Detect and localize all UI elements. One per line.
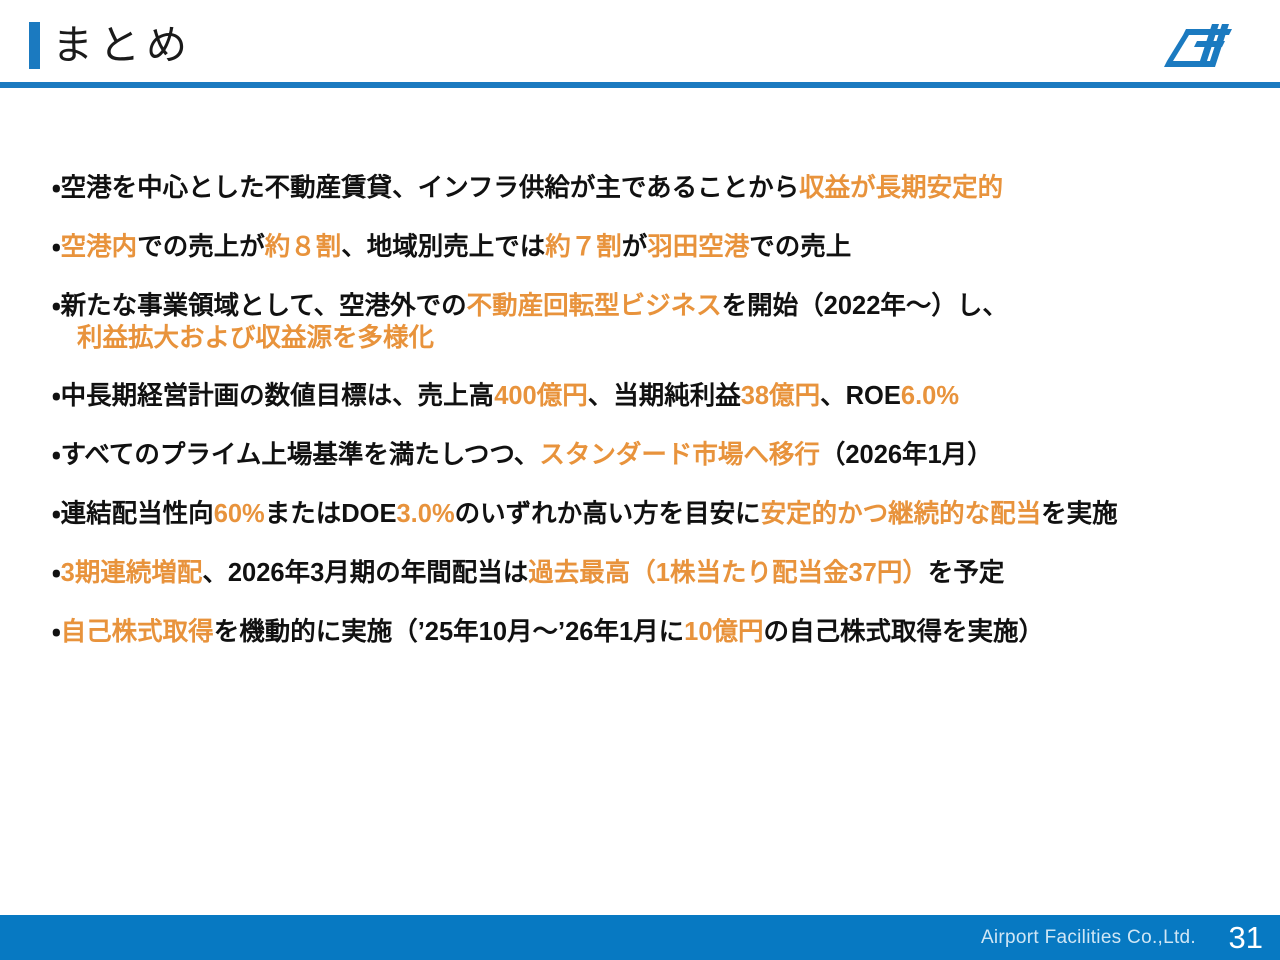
bullet-2-seg-1: 空港内 <box>61 233 138 261</box>
bullet-item-4: ・中長期経営計画の数値目標は、売上高400億円、当期純利益38億円、ROE6.0… <box>52 380 1242 412</box>
bullet-7-seg-2: 、2026年3月期の年間配当は <box>202 559 528 587</box>
bullet-1-seg-2: 収益が長期安定的 <box>799 174 1003 202</box>
bullet-2-seg-8: での売上 <box>749 233 851 261</box>
bullet-2-seg-7: 羽田空港 <box>647 233 749 261</box>
bullet-item-1: ・空港を中心とした不動産賃貸、インフラ供給が主であることから収益が長期安定的 <box>52 172 1242 204</box>
bullet-8-seg-1: 自己株式取得 <box>61 618 214 646</box>
bullet-2-seg-2: での売上が <box>137 233 265 261</box>
bullet-2-seg-6: が <box>622 233 648 261</box>
slide-footer: Airport Facilities Co.,Ltd. 31 <box>0 915 1280 960</box>
bullet-4-seg-5: 、ROE <box>820 382 901 410</box>
bullet-8-seg-2: を機動的に実施（’25年10月〜’26年1月に <box>214 618 684 646</box>
bullet-4-seg-2: 400億円 <box>494 382 588 410</box>
bullet-7-seg-1: 3期連続増配 <box>61 559 203 587</box>
bullet-item-3: ・新たな事業領域として、空港外での不動産回転型ビジネスを開始（2022年〜）し、… <box>52 290 1242 354</box>
bullet-item-7: ・3期連続増配、2026年3月期の年間配当は過去最高（1株当たり配当金37円）を… <box>52 557 1242 589</box>
bullet-2-seg-4: 、地域別売上では <box>341 233 545 261</box>
header-divider <box>0 82 1280 88</box>
bullet-3-continuation: 利益拡大および収益源を多様化 <box>52 322 1242 354</box>
bullet-3-seg-1: 新たな事業領域として、空港外での <box>61 292 467 320</box>
bullet-marker: ・ <box>52 441 61 469</box>
bullet-marker: ・ <box>52 559 61 587</box>
bullet-6-seg-5: のいずれか高い方を目安に <box>455 500 761 528</box>
bullet-item-6: ・連結配当性向60%またはDOE3.0%のいずれか高い方を目安に安定的かつ継続的… <box>52 498 1242 530</box>
bullet-marker: ・ <box>52 292 61 320</box>
slide: まとめ ・空港を中心とした不動産賃貸、インフラ供給が主であることから収益が長期安… <box>0 0 1280 960</box>
bullet-3-seg-4: 利益拡大および収益源を多様化 <box>77 324 434 352</box>
bullet-6-seg-3: またはDOE <box>265 500 397 528</box>
bullet-marker: ・ <box>52 174 61 202</box>
bullet-marker: ・ <box>52 233 61 261</box>
bullet-marker: ・ <box>52 500 61 528</box>
bullet-7-seg-3: 過去最高（1株当たり配当金37円） <box>528 559 928 587</box>
bullet-8-seg-3: 10億円 <box>684 618 763 646</box>
title-accent-bar <box>29 22 40 69</box>
bullet-3-seg-3: を開始（2022年〜）し、 <box>722 292 1008 320</box>
bullet-5-seg-2: スタンダード市場へ移行 <box>539 441 820 469</box>
bullet-6-seg-1: 連結配当性向 <box>61 500 214 528</box>
footer-company-name: Airport Facilities Co.,Ltd. <box>981 927 1196 949</box>
bullet-6-seg-4: 3.0% <box>397 500 455 528</box>
bullet-2-seg-5: 約７割 <box>545 233 622 261</box>
bullet-6-seg-6: 安定的かつ継続的な配当 <box>761 500 1042 528</box>
bullet-6-seg-2: 60% <box>214 500 265 528</box>
bullet-4-seg-6: 6.0% <box>901 382 959 410</box>
bullet-8-seg-4: の自己株式取得を実施） <box>764 618 1045 646</box>
bullet-5-seg-1: すべてのプライム上場基準を満たしつつ、 <box>61 441 540 469</box>
bullet-1-seg-1: 空港を中心とした不動産賃貸、インフラ供給が主であることから <box>61 174 799 202</box>
bullet-4-seg-4: 38億円 <box>741 382 820 410</box>
bullet-item-5: ・すべてのプライム上場基準を満たしつつ、スタンダード市場へ移行（2026年1月） <box>52 439 1242 471</box>
bullet-marker: ・ <box>52 618 61 646</box>
bullet-item-2: ・空港内での売上が約８割、地域別売上では約７割が羽田空港での売上 <box>52 231 1242 263</box>
bullet-marker: ・ <box>52 382 61 410</box>
page-title: まとめ <box>52 16 193 74</box>
bullet-4-seg-1: 中長期経営計画の数値目標は、売上高 <box>61 382 495 410</box>
page-number: 31 <box>1229 919 1263 957</box>
bullet-5-seg-3: （2026年1月） <box>820 441 993 469</box>
summary-bullet-list: ・空港を中心とした不動産賃貸、インフラ供給が主であることから収益が長期安定的 ・… <box>52 172 1242 648</box>
slide-header: まとめ <box>0 0 1280 88</box>
airport-facilities-af-logo <box>1150 20 1246 70</box>
bullet-7-seg-4: を予定 <box>928 559 1005 587</box>
bullet-item-8: ・自己株式取得を機動的に実施（’25年10月〜’26年1月に10億円の自己株式取… <box>52 616 1242 648</box>
bullet-3-seg-2: 不動産回転型ビジネス <box>467 292 722 320</box>
bullet-2-seg-3: 約８割 <box>265 233 342 261</box>
bullet-4-seg-3: 、当期純利益 <box>588 382 741 410</box>
bullet-6-seg-7: を実施 <box>1041 500 1118 528</box>
